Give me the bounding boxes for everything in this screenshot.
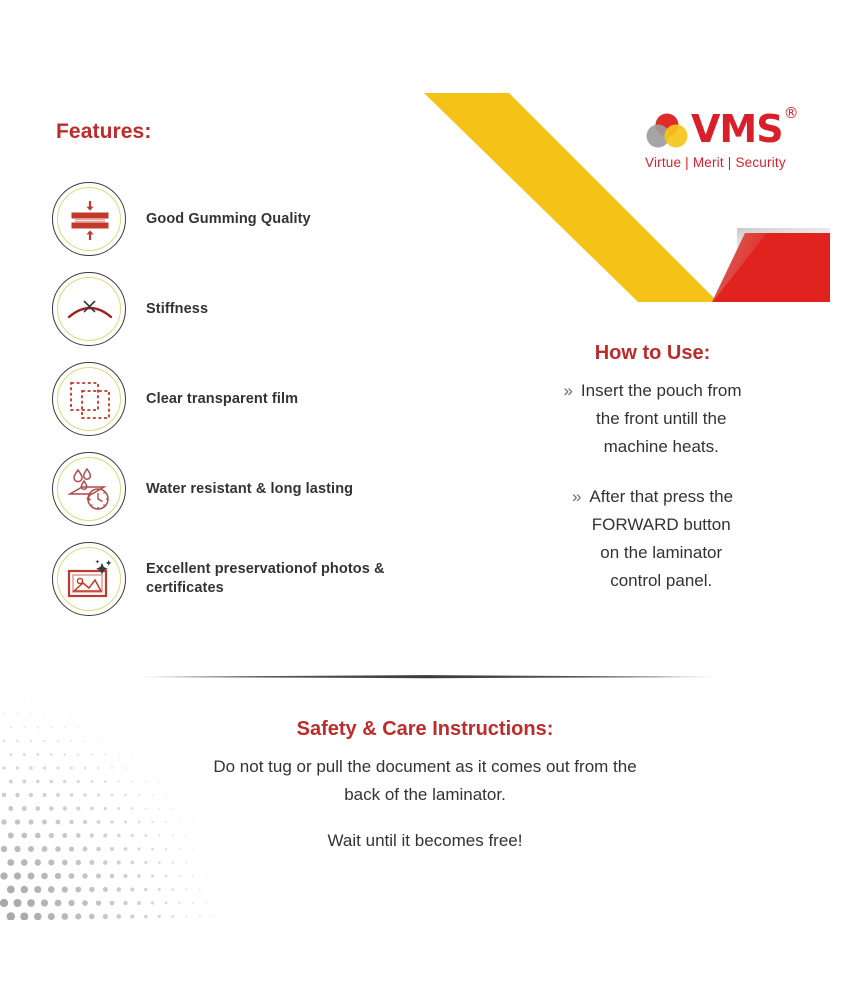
step-line: on the laminator [589, 539, 733, 567]
step-line: After that press the [589, 483, 733, 511]
feature-item-transparent-film: Clear transparent film [52, 354, 452, 444]
how-to-use-step-1-text: Insert the pouch from the front untill t… [581, 377, 742, 461]
feature-label: Stiffness [146, 300, 208, 319]
how-to-use-step-2-text: After that press the FORWARD button on t… [589, 483, 733, 595]
infographic-canvas: VMS® Virtue | Merit | Security Features: [0, 0, 850, 995]
vms-wordmark-text: VMS [691, 107, 783, 151]
stiffness-icon [64, 284, 116, 336]
feature-item-stiffness: Stiffness [52, 264, 452, 354]
vms-logo: VMS® Virtue | Merit | Security [645, 110, 820, 180]
step-line: machine heats. [581, 433, 742, 461]
feature-badge [52, 362, 126, 436]
how-to-use-heading: How to Use: [505, 342, 800, 365]
vms-tagline: Virtue | Merit | Security [645, 155, 820, 170]
step-line: control panel. [589, 567, 733, 595]
feature-badge [52, 272, 126, 346]
transparent-film-icon [64, 374, 116, 426]
gumming-quality-icon [64, 194, 116, 246]
feature-item-gumming: Good Gumming Quality [52, 174, 452, 264]
feature-label: Good Gumming Quality [146, 210, 311, 229]
logo-row: VMS® [645, 110, 820, 154]
bullet-guillemet-icon: » [563, 377, 572, 405]
step-line: FORWARD button [589, 511, 733, 539]
step-line: Insert the pouch from [581, 377, 742, 405]
registered-trademark-icon: ® [784, 104, 798, 122]
how-to-use-step-1: » Insert the pouch from the front untill… [505, 377, 800, 461]
water-resistant-icon [64, 464, 116, 516]
how-to-use-section: How to Use: » Insert the pouch from the … [505, 342, 800, 617]
vms-wordmark: VMS® [691, 110, 797, 148]
vms-circles-icon [645, 112, 689, 150]
bullet-guillemet-icon: » [572, 483, 581, 511]
photo-preservation-icon [64, 554, 116, 606]
feature-label: Excellent preservationof photos & certif… [146, 560, 452, 598]
halftone-dots [0, 600, 240, 920]
features-list: Good Gumming Quality Stiffness Clear tra… [52, 174, 452, 624]
feature-item-water-resistant: Water resistant & long lasting [52, 444, 452, 534]
halftone-decoration [0, 600, 240, 920]
features-heading: Features: [56, 120, 151, 144]
feature-label: Water resistant & long lasting [146, 480, 353, 499]
how-to-use-step-2: » After that press the FORWARD button on… [505, 483, 800, 595]
feature-badge [52, 182, 126, 256]
feature-label-line1: Excellent preservation [146, 561, 303, 577]
step-line: the front untill the [581, 405, 742, 433]
feature-badge [52, 452, 126, 526]
feature-label: Clear transparent film [146, 390, 298, 409]
